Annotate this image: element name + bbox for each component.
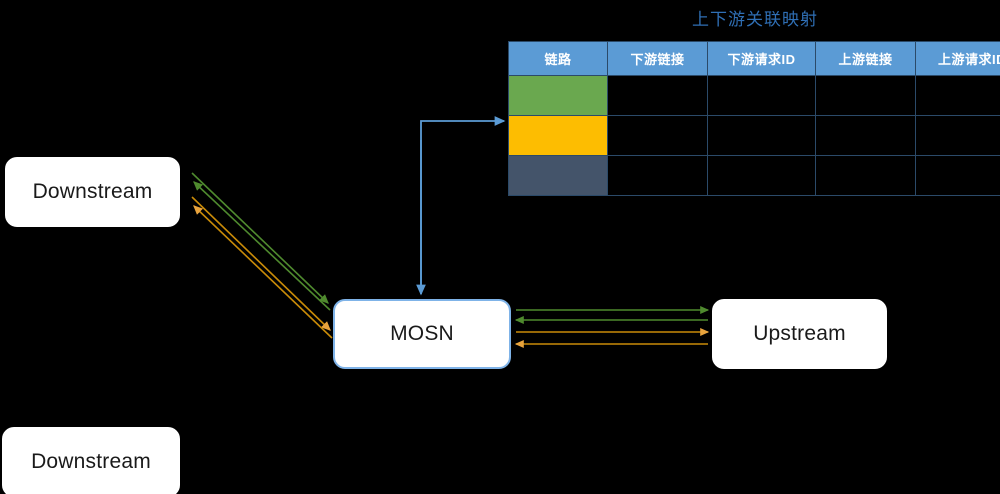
row-color-swatch-green [509,76,608,116]
edge-mosn-mapping-table-blue [421,121,504,294]
column-header-upstream-reqid[interactable]: 上游请求ID [916,42,1000,76]
cell-downstream-conn[interactable] [608,156,708,196]
node-label: Upstream [753,322,846,346]
node-downstream-bottom[interactable]: Downstream [2,427,180,494]
table-row[interactable] [509,116,1000,156]
mapping-table: 链路 下游链接 下游请求ID 上游链接 上游请求ID [508,41,1000,196]
column-header-downstream-conn[interactable]: 下游链接 [608,42,708,76]
mapping-table-title: 上下游关联映射 [510,5,1000,30]
column-header-downstream-reqid[interactable]: 下游请求ID [708,42,816,76]
cell-upstream-reqid[interactable] [916,156,1000,196]
edge-downstream-mosn-green [192,173,330,310]
column-header-upstream-conn[interactable]: 上游链接 [816,42,916,76]
column-header-link[interactable]: 链路 [509,42,608,76]
edge-downstream-mosn-orange [192,197,332,338]
cell-downstream-conn[interactable] [608,76,708,116]
cell-upstream-reqid[interactable] [916,116,1000,156]
diagram-canvas: Downstream MOSN Upstream Downstream 上下游关… [0,0,1000,494]
cell-downstream-reqid[interactable] [708,76,816,116]
node-downstream-top[interactable]: Downstream [5,157,180,227]
cell-upstream-conn[interactable] [816,116,916,156]
table-row[interactable] [509,76,1000,116]
node-mosn[interactable]: MOSN [333,299,511,369]
cell-downstream-conn[interactable] [608,116,708,156]
row-color-swatch-slate [509,156,608,196]
node-upstream[interactable]: Upstream [712,299,887,369]
cell-downstream-reqid[interactable] [708,116,816,156]
edge-mosn-upstream-green [516,310,708,320]
table-row[interactable] [509,156,1000,196]
cell-upstream-conn[interactable] [816,76,916,116]
mapping-table-header-row: 链路 下游链接 下游请求ID 上游链接 上游请求ID [509,42,1000,76]
cell-upstream-conn[interactable] [816,156,916,196]
edge-mosn-upstream-orange [516,332,708,344]
node-label: Downstream [33,180,153,204]
row-color-swatch-yellow [509,116,608,156]
node-label: Downstream [31,450,151,474]
cell-upstream-reqid[interactable] [916,76,1000,116]
cell-downstream-reqid[interactable] [708,156,816,196]
node-label: MOSN [390,322,454,346]
